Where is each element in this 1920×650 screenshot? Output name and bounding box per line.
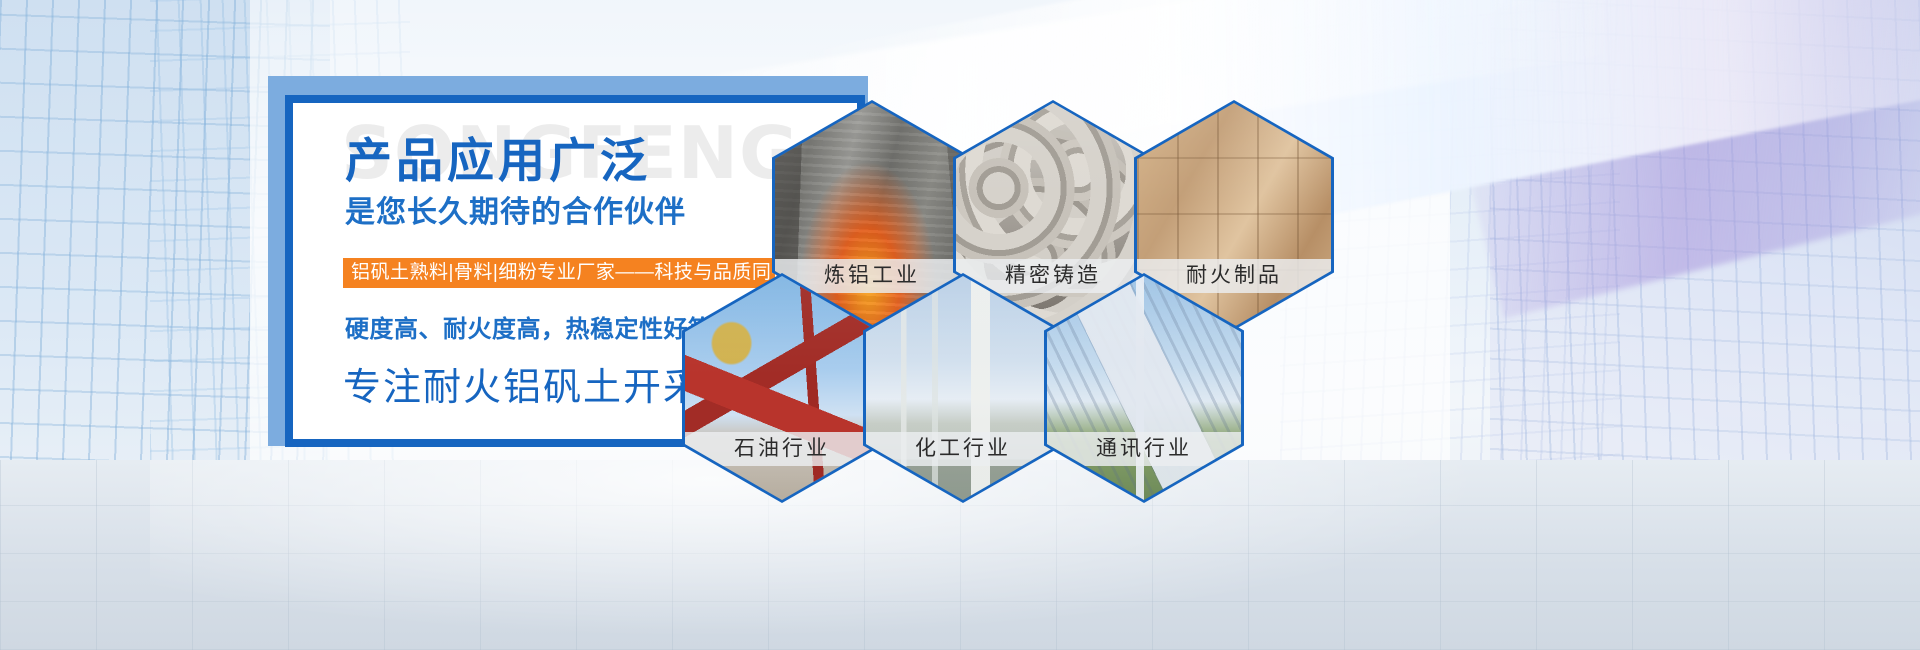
hexagon-label: 石油行业	[685, 432, 879, 466]
hexagon-label: 通讯行业	[1047, 432, 1241, 466]
promo-banner: SONGFENG 产品应用广泛 是您长久期待的合作伙伴 铝矾土熟料|骨料|细粉专…	[0, 0, 1920, 650]
industry-hexagon-cluster: 炼铝工业 精密铸造 耐火制品 石油行业	[0, 0, 1920, 650]
hexagon-label: 化工行业	[866, 432, 1060, 466]
